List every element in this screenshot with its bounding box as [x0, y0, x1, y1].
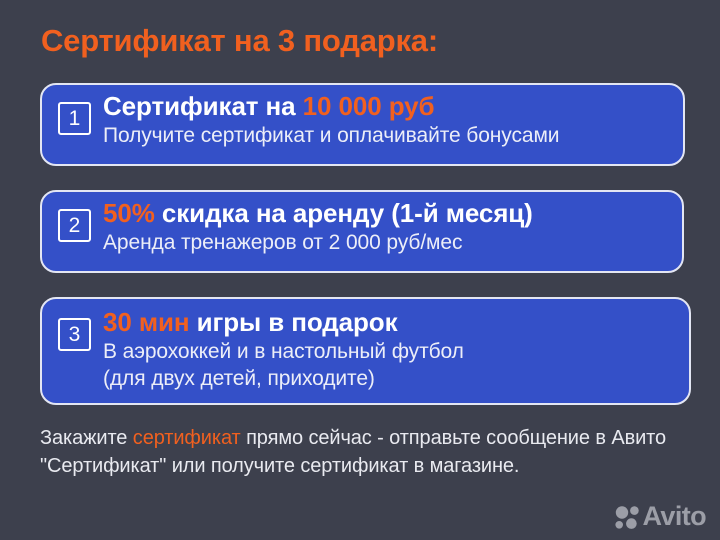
avito-wordmark: Avito: [643, 503, 707, 530]
offer-subtitle-2-line-1: Аренда тренажеров от 2 000 руб/мес: [103, 229, 682, 256]
footer-highlight: сертификат: [133, 427, 241, 449]
offer-subtitle-3-line-1: В аэрохоккей и в настольный футбол: [103, 338, 689, 365]
avito-logo: Avito: [614, 503, 707, 530]
offer-card-1: 1 Сертификат на 10 000 руб Получите серт…: [40, 83, 685, 166]
offer-heading-highlight-3: 30 мин: [103, 307, 189, 337]
footer-text-before: Закажите: [40, 427, 133, 449]
offer-body-1: Сертификат на 10 000 руб Получите сертиф…: [103, 85, 683, 149]
footer-note: Закажите сертификат прямо сейчас - отпра…: [40, 424, 690, 480]
offer-heading-text-3: игры в подарок: [189, 307, 397, 337]
offer-heading-text-1: Сертификат на: [103, 91, 303, 121]
page-title: Сертификат на 3 подарка:: [41, 23, 438, 59]
offer-card-3: 3 30 мин игры в подарок В аэрохоккей и в…: [40, 297, 691, 405]
offer-subtitle-3-line-2: (для двух детей, приходите): [103, 365, 689, 392]
promo-poster: Сертификат на 3 подарка: 1 Сертификат на…: [0, 0, 720, 540]
offer-heading-3: 30 мин игры в подарок: [103, 307, 689, 338]
offer-body-2: 50% скидка на аренду (1-й месяц) Аренда …: [103, 192, 682, 256]
offer-card-2: 2 50% скидка на аренду (1-й месяц) Аренд…: [40, 190, 684, 273]
avito-dots-icon: [614, 504, 640, 530]
offer-number-badge-1: 1: [58, 102, 91, 135]
offer-number-badge-3: 3: [58, 318, 91, 351]
offer-heading-highlight-1: 10 000 руб: [303, 91, 435, 121]
offer-body-3: 30 мин игры в подарок В аэрохоккей и в н…: [103, 299, 689, 392]
offer-number-badge-2: 2: [58, 209, 91, 242]
offer-heading-text-2: скидка на аренду (1-й месяц): [155, 198, 533, 228]
offer-subtitle-1-line-1: Получите сертификат и оплачивайте бонуса…: [103, 122, 683, 149]
offer-heading-highlight-2: 50%: [103, 198, 155, 228]
offer-heading-1: Сертификат на 10 000 руб: [103, 91, 683, 122]
offer-heading-2: 50% скидка на аренду (1-й месяц): [103, 198, 682, 229]
